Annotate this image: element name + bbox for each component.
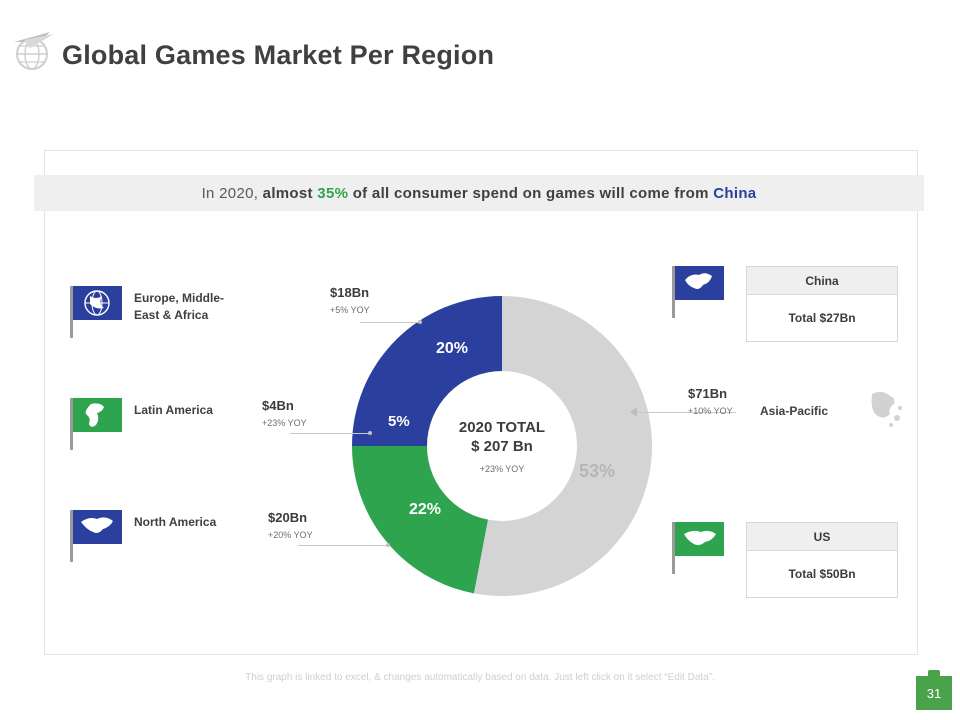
value-callout-latam: $4Bn +23% YOY <box>262 398 342 428</box>
value-callout-emea: $18Bn +5% YOY <box>330 285 420 315</box>
info-box-us-title: US <box>747 523 897 551</box>
legend-label-asia-pacific: Asia-Pacific <box>760 404 828 418</box>
callout-bold1: almost <box>263 185 318 202</box>
leader-arrow-asia-pacific <box>630 407 637 417</box>
value-amount-north-america: $20Bn <box>268 510 358 525</box>
flag-latin-america-icon <box>70 398 122 436</box>
callout-highlight-percent: 35% <box>317 185 348 202</box>
legend-item-emea[interactable]: Europe, Middle- East & Africa <box>70 286 224 324</box>
info-box-china: China Total $27Bn <box>746 266 898 342</box>
legend-label-emea: Europe, Middle- East & Africa <box>134 290 224 324</box>
leader-line-north-america <box>298 545 388 546</box>
leader-dot-latam <box>368 431 372 435</box>
page-header: Global Games Market Per Region <box>0 0 960 110</box>
callout-highlight-region: China <box>713 185 756 202</box>
leader-dot-emea <box>418 320 422 324</box>
map-asia-pacific-icon <box>866 386 906 432</box>
footer-note: This graph is linked to excel, & changes… <box>0 672 960 683</box>
leader-line-emea <box>360 322 420 323</box>
legend-label-latam-line1: Latin America <box>134 403 213 417</box>
leader-dot-north-america <box>386 543 390 547</box>
legend-item-north-america[interactable]: North America <box>70 510 216 548</box>
callout-banner: In 2020, almost 35% of all consumer spen… <box>34 175 924 211</box>
donut-total-yoy: +23% YOY <box>480 464 525 474</box>
legend-label-north-america: North America <box>134 514 216 531</box>
page-title: Global Games Market Per Region <box>62 40 494 71</box>
flag-north-america-icon <box>70 510 122 548</box>
legend-label-emea-line1: Europe, Middle- <box>134 291 224 305</box>
callout-middle: of all consumer spend on games will come… <box>348 185 713 202</box>
legend-label-emea-line2: East & Africa <box>134 308 208 322</box>
donut-total-title: 2020 TOTAL <box>459 418 545 437</box>
page-number-badge: 31 <box>916 676 952 710</box>
callout-text: In 2020, almost 35% of all consumer spen… <box>202 185 757 202</box>
slice-label-asia-pacific: 53% <box>579 461 615 482</box>
value-callout-north-america: $20Bn +20% YOY <box>268 510 358 540</box>
info-box-china-title: China <box>747 267 897 295</box>
slice-label-emea: 20% <box>436 340 468 358</box>
donut-chart: 2020 TOTAL $ 207 Bn +23% YOY 20% 5% 22% … <box>352 296 652 596</box>
value-yoy-asia-pacific: +10% YOY <box>688 406 758 416</box>
info-box-china-value: Total $27Bn <box>747 295 897 341</box>
slice-label-north-america: 22% <box>409 501 441 519</box>
value-yoy-latam: +23% YOY <box>262 418 342 428</box>
value-amount-emea: $18Bn <box>330 285 420 300</box>
leader-line-latam <box>290 433 370 434</box>
callout-prefix: In 2020, <box>202 185 263 202</box>
donut-total-value: $ 207 Bn <box>471 437 533 456</box>
flag-us-icon <box>672 522 724 560</box>
globe-logo-icon <box>10 28 58 76</box>
value-amount-asia-pacific: $71Bn <box>688 386 758 401</box>
value-yoy-emea: +5% YOY <box>330 305 420 315</box>
flag-china-icon <box>672 266 724 304</box>
value-callout-asia-pacific: $71Bn +10% YOY <box>688 386 758 416</box>
legend-label-north-america-line1: North America <box>134 515 216 529</box>
slice-label-latam: 5% <box>388 413 410 430</box>
flag-europe-icon <box>70 286 122 324</box>
info-box-us-value: Total $50Bn <box>747 551 897 597</box>
info-box-us: US Total $50Bn <box>746 522 898 598</box>
legend-item-latam[interactable]: Latin America <box>70 398 213 436</box>
value-yoy-north-america: +20% YOY <box>268 530 358 540</box>
value-amount-latam: $4Bn <box>262 398 342 413</box>
legend-label-latam: Latin America <box>134 402 213 419</box>
donut-center-label: 2020 TOTAL $ 207 Bn +23% YOY <box>427 371 577 521</box>
